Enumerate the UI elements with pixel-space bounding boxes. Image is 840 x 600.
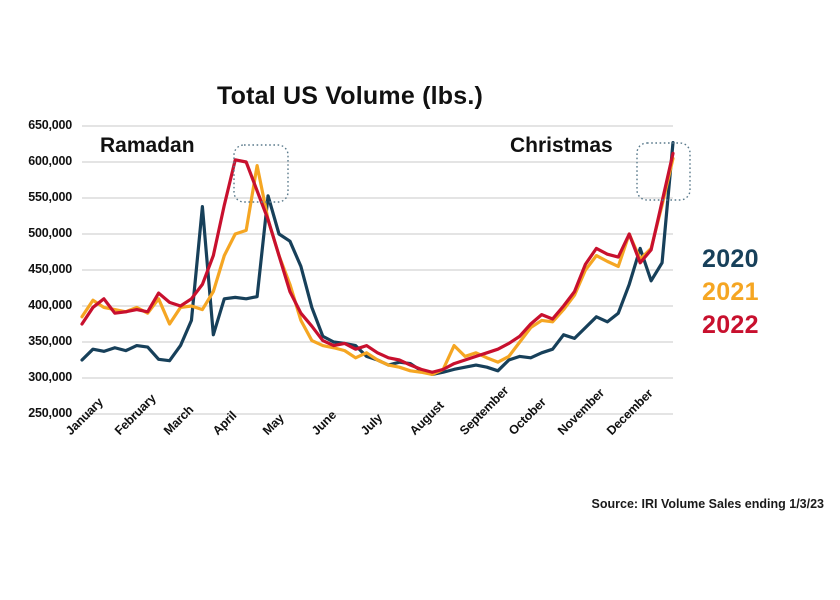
series-line-2022 [82, 153, 673, 372]
y-axis-tick-label: 350,000 [2, 334, 72, 348]
legend-item-2022[interactable]: 2022 [702, 311, 759, 340]
annotation-ramadan: Ramadan [100, 134, 195, 158]
series-lines-group [82, 143, 673, 375]
y-axis-tick-label: 250,000 [2, 406, 72, 420]
annotation-christmas: Christmas [510, 134, 613, 158]
y-axis-tick-label: 650,000 [2, 118, 72, 132]
ramadan-highlight-box [234, 145, 288, 202]
series-line-2020 [82, 143, 673, 375]
y-axis-tick-label: 300,000 [2, 370, 72, 384]
chart-canvas: Total US Volume (lbs.) 650,000600,000550… [0, 0, 840, 600]
y-axis-tick-label: 450,000 [2, 262, 72, 276]
annotation-highlight-boxes [234, 143, 690, 202]
y-axis-tick-label: 600,000 [2, 154, 72, 168]
y-axis-tick-label: 400,000 [2, 298, 72, 312]
legend-item-2020[interactable]: 2020 [702, 245, 759, 274]
legend-item-2021[interactable]: 2021 [702, 278, 759, 307]
source-note: Source: IRI Volume Sales ending 1/3/23 [592, 497, 824, 511]
y-axis-tick-label: 550,000 [2, 190, 72, 204]
y-axis-tick-label: 500,000 [2, 226, 72, 240]
